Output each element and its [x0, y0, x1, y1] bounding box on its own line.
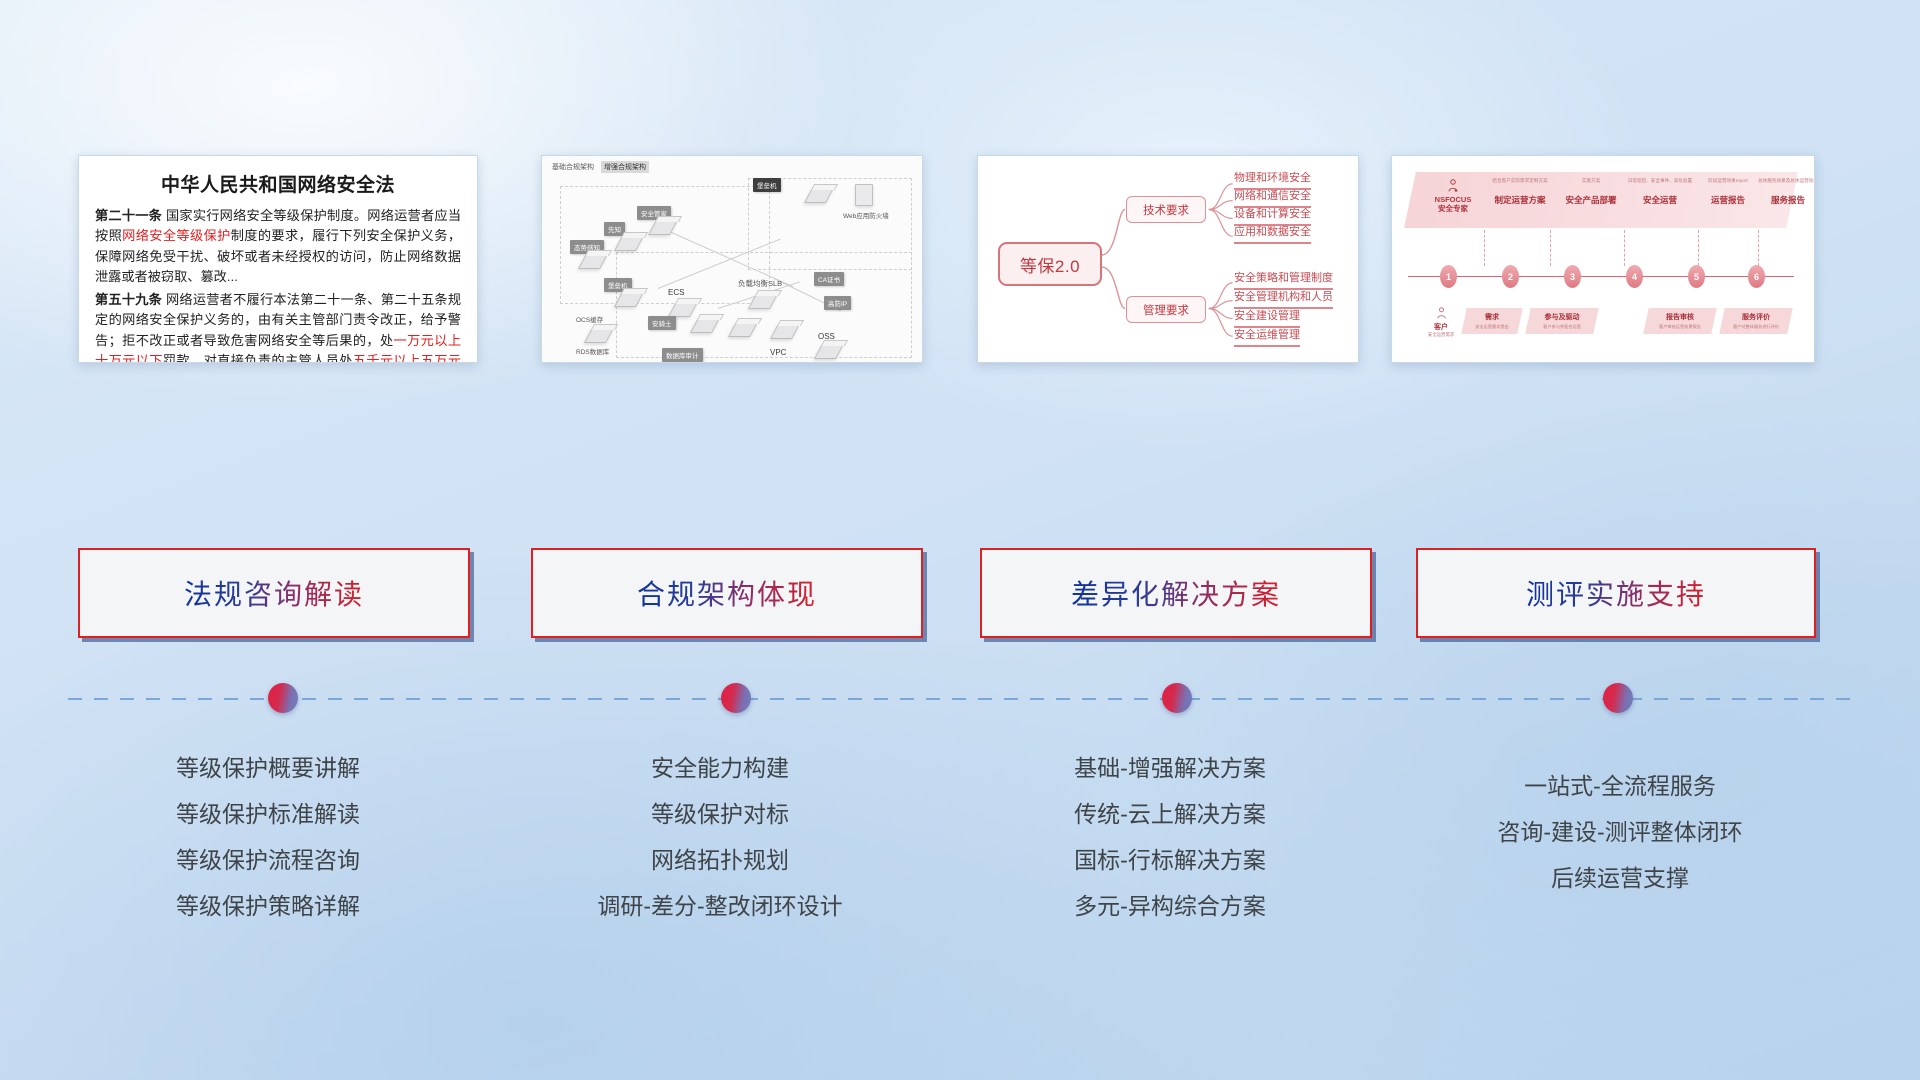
heading-label-2: 合规架构体现 [637, 573, 817, 613]
detail-column-1: 等级保护概要讲解 等级保护标准解读 等级保护流程咨询 等级保护策略详解 [68, 745, 468, 929]
timeline-dot-4 [1603, 683, 1633, 713]
list-item: 传统-云上解决方案 [960, 791, 1380, 837]
list-item: 等级保护标准解读 [68, 791, 468, 837]
list-item: 安全能力构建 [520, 745, 920, 791]
list-item: 等级保护策略详解 [68, 883, 468, 929]
heading-box-2[interactable]: 合规架构体现 [531, 548, 923, 638]
list-item: 基础-增强解决方案 [960, 745, 1380, 791]
detail-column-3: 基础-增强解决方案 传统-云上解决方案 国标-行标解决方案 多元-异构综合方案 [960, 745, 1380, 929]
timeline [68, 697, 1852, 700]
timeline-dot-3 [1162, 683, 1192, 713]
list-item: 一站式-全流程服务 [1400, 763, 1840, 809]
heading-box-1[interactable]: 法规咨询解读 [78, 548, 470, 638]
heading-label-1: 法规咨询解读 [184, 573, 364, 613]
list-item: 网络拓扑规划 [520, 837, 920, 883]
heading-label-3: 差异化解决方案 [1071, 573, 1281, 613]
list-item: 国标-行标解决方案 [960, 837, 1380, 883]
list-item: 多元-异构综合方案 [960, 883, 1380, 929]
detail-column-2: 安全能力构建 等级保护对标 网络拓扑规划 调研-差分-整改闭环设计 [520, 745, 920, 929]
list-item: 咨询-建设-测评整体闭环 [1400, 809, 1840, 855]
timeline-dot-2 [721, 683, 751, 713]
heading-box-4[interactable]: 测评实施支持 [1416, 548, 1816, 638]
list-item: 等级保护对标 [520, 791, 920, 837]
list-item: 等级保护流程咨询 [68, 837, 468, 883]
timeline-dot-1 [268, 683, 298, 713]
list-item: 后续运营支撑 [1400, 855, 1840, 901]
heading-box-3[interactable]: 差异化解决方案 [980, 548, 1372, 638]
list-item: 调研-差分-整改闭环设计 [520, 883, 920, 929]
detail-column-4: 一站式-全流程服务 咨询-建设-测评整体闭环 后续运营支撑 [1400, 763, 1840, 901]
heading-label-4: 测评实施支持 [1526, 573, 1706, 613]
slide-root: 中华人民共和国网络安全法 第二十一条 国家实行网络安全等级保护制度。网络运营者应… [0, 0, 1920, 1080]
timeline-dashed-line [68, 698, 1852, 700]
list-item: 等级保护概要讲解 [68, 745, 468, 791]
